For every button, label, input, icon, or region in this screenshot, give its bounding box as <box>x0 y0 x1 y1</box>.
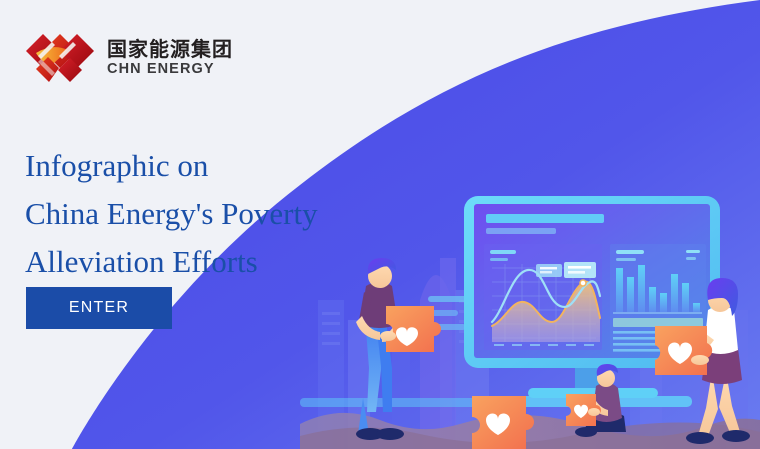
heart-puzzle-piece-large <box>472 396 534 449</box>
page-title-line-3: Alleviation Efforts <box>25 238 425 286</box>
page-title-line-1: Infographic on <box>25 142 425 190</box>
heart-puzzle-piece <box>386 306 441 352</box>
landing-page: 国家能源集团 CHN ENERGY Infographic on China E… <box>0 0 760 449</box>
brand-logo-text: 国家能源集团 CHN ENERGY <box>107 39 233 77</box>
brand-name-english: CHN ENERGY <box>107 62 233 77</box>
enter-button[interactable]: ENTER <box>26 287 172 329</box>
brand-logo[interactable]: 国家能源集团 CHN ENERGY <box>26 32 233 84</box>
chn-energy-logo-mark <box>26 32 94 84</box>
brand-name-chinese: 国家能源集团 <box>107 39 233 60</box>
page-title-line-2: China Energy's Poverty <box>25 190 425 238</box>
page-title: Infographic on China Energy's Poverty Al… <box>25 142 425 286</box>
heart-puzzle-piece <box>655 326 712 375</box>
